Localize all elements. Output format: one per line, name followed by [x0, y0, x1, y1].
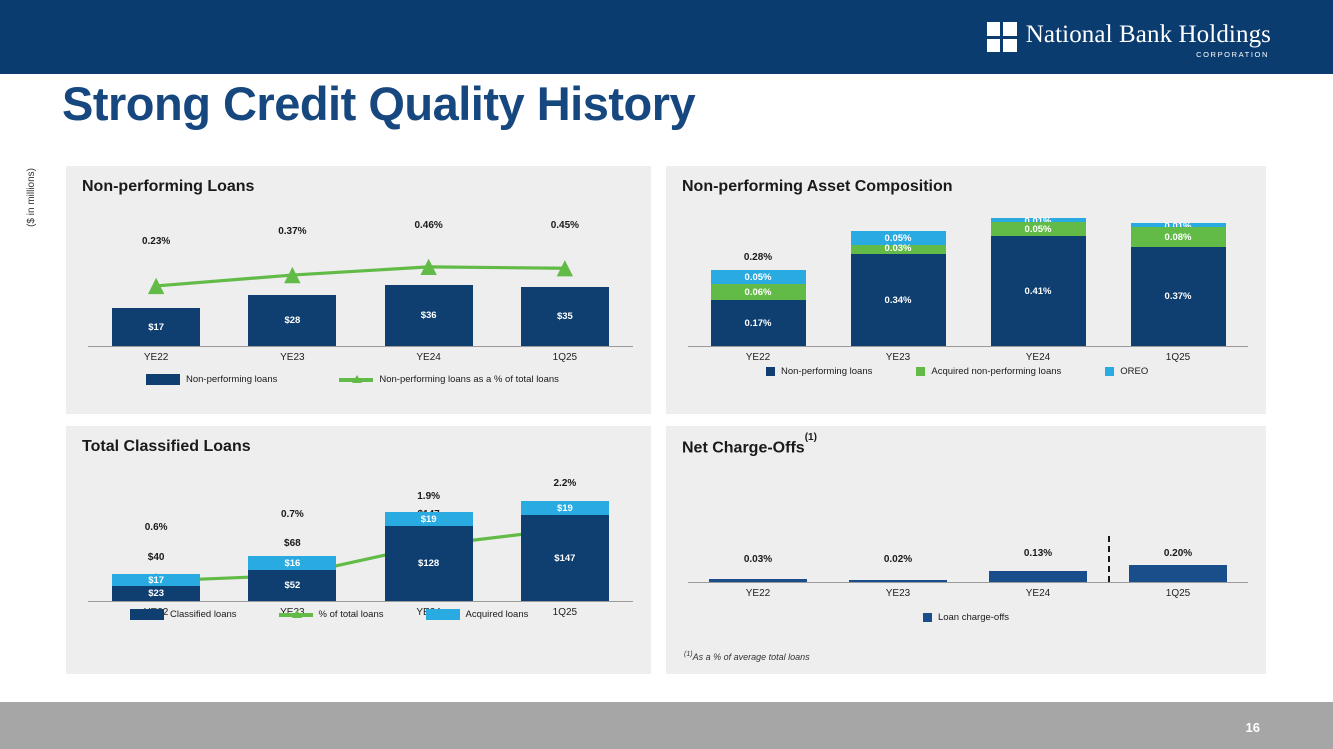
chart-title-text: Net Charge-Offs: [682, 439, 805, 456]
chart-title: Net Charge-Offs(1): [682, 438, 817, 457]
legend-swatch-icon: [923, 613, 932, 622]
legend-label: Acquired loans: [466, 609, 529, 620]
footer-bar: [0, 702, 1333, 749]
bar-slot: [688, 464, 828, 582]
bar-slot: $19 $147: [497, 476, 633, 601]
legend-item-classified-loans[interactable]: Classified loans: [130, 609, 237, 620]
segment-classified-loans: $128: [385, 526, 473, 601]
bar-slot: $28: [224, 226, 360, 346]
chart-title-superscript: (1): [805, 432, 817, 443]
x-tick-label: 1Q25: [1108, 352, 1248, 363]
segment-acquired-loans: $16: [248, 556, 336, 570]
page-title: Strong Credit Quality History: [62, 76, 695, 131]
bar-slot: 0.01% 0.05% 0.41%: [968, 218, 1108, 346]
y-axis-caption: ($ in millions): [26, 68, 37, 178]
legend-label: OREO: [1120, 366, 1148, 377]
bar-slot: $35: [497, 226, 633, 346]
chart-panel-npa-composition: Non-performing Asset Composition 0.28% 0…: [666, 166, 1266, 414]
stacked-bar-series: $17 $23 $16 $52 $19 $128 $19 $147: [88, 476, 633, 601]
bar-slot: [828, 464, 968, 582]
segment-classified-loans: $52: [248, 570, 336, 601]
segment-acquired-npl: 0.06%: [711, 284, 806, 300]
stacked-bar-ye23: 0.05% 0.03% 0.34%: [851, 231, 946, 346]
bar-npl-ye22: $17: [112, 308, 200, 346]
stacked-bar-ye22: $17 $23: [112, 574, 200, 601]
segment-oreo: 0.05%: [711, 270, 806, 284]
legend-swatch-icon: [1105, 367, 1114, 376]
x-tick-label: YE24: [968, 352, 1108, 363]
x-tick-label: YE22: [688, 352, 828, 363]
chart-legend: Classified loans % of total loans Acquir…: [130, 609, 528, 620]
y-axis-caption-text: ($ in millions): [26, 168, 37, 227]
logo-company-subtitle: CORPORATION: [1196, 50, 1269, 59]
footnote-text: As a % of average total loans: [693, 652, 810, 662]
company-logo: National Bank Holdings CORPORATION: [987, 22, 1271, 59]
segment-classified-loans: $147: [521, 515, 609, 601]
x-tick-label: YE22: [88, 352, 224, 363]
legend-swatch-icon: [916, 367, 925, 376]
legend-item-acquired-loans[interactable]: Acquired loans: [426, 609, 529, 620]
legend-item-loan-charge-offs[interactable]: Loan charge-offs: [923, 612, 1009, 623]
segment-acquired-loans: $19: [385, 512, 473, 526]
legend-item-oreo[interactable]: OREO: [1105, 366, 1148, 377]
bar-slot: [1108, 464, 1248, 582]
segment-npl: 0.37%: [1131, 247, 1226, 346]
x-axis-categories: YE22 YE23 YE24 1Q25: [88, 352, 633, 363]
x-axis-line: [688, 346, 1248, 347]
segment-npl: 0.17%: [711, 300, 806, 346]
segment-acquired-loans: $17: [112, 574, 200, 586]
bar-slot: $36: [361, 226, 497, 346]
bar-slot: 0.05% 0.03% 0.34%: [828, 218, 968, 346]
bar-npl-ye23: $28: [248, 295, 336, 346]
stacked-bar-ye24: $19 $128: [385, 512, 473, 601]
chart-legend: Non-performing loans Non-performing loan…: [146, 374, 559, 385]
legend-item-non-performing-loans[interactable]: Non-performing loans: [146, 374, 277, 385]
segment-acquired-loans: $19: [521, 501, 609, 515]
legend-item-npl-percent[interactable]: Non-performing loans as a % of total loa…: [339, 374, 559, 385]
chart-title: Non-performing Loans: [82, 178, 254, 196]
chart-title: Non-performing Asset Composition: [682, 178, 953, 196]
bar-slot: 0.01% 0.08% 0.37%: [1108, 218, 1248, 346]
segment-npl: 0.41%: [991, 236, 1086, 346]
stacked-bar-ye22: 0.05% 0.06% 0.17%: [711, 270, 806, 346]
x-axis-categories: YE22 YE23 YE24 1Q25: [688, 588, 1248, 599]
chart-panel-total-classified-loans: Total Classified Loans 0.6% 0.7% 1.9% 2.…: [66, 426, 651, 674]
legend-line-marker-icon: [279, 609, 313, 620]
legend-swatch-icon: [146, 374, 180, 385]
legend-label: Non-performing loans: [781, 366, 872, 377]
bar-slot: $16 $52: [224, 476, 360, 601]
x-tick-label: YE23: [828, 352, 968, 363]
legend-label: Classified loans: [170, 609, 237, 620]
legend-item-pct-of-total-loans[interactable]: % of total loans: [279, 609, 384, 620]
segment-npl: 0.34%: [851, 254, 946, 346]
x-tick-label: YE24: [968, 588, 1108, 599]
legend-swatch-icon: [130, 609, 164, 620]
legend-label: Non-performing loans: [186, 374, 277, 385]
plot-area: 0.03% 0.02% 0.13% 0.20% YE22 YE23 YE24 1…: [688, 464, 1248, 582]
chart-legend: Loan charge-offs: [666, 612, 1266, 623]
bar-slot: [968, 464, 1108, 582]
bar-nco-1q25: [1129, 565, 1227, 582]
legend-item-non-performing-loans[interactable]: Non-performing loans: [766, 366, 872, 377]
legend-label: Loan charge-offs: [938, 612, 1009, 623]
legend-swatch-icon: [766, 367, 775, 376]
segment-acquired-npl: 0.03%: [851, 245, 946, 254]
x-axis-line: [88, 346, 633, 347]
chart-footnote: (1)As a % of average total loans: [684, 651, 810, 662]
bar-nco-ye24: [989, 571, 1087, 582]
stacked-bar-1q25: 0.01% 0.08% 0.37%: [1131, 223, 1226, 346]
bar-series-non-performing-loans: $17 $28 $36 $35: [88, 226, 633, 346]
stacked-bar-series: 0.05% 0.06% 0.17% 0.05% 0.03% 0.34% 0.01…: [688, 218, 1248, 346]
segment-classified-loans: $23: [112, 586, 200, 601]
chart-panel-net-charge-offs: Net Charge-Offs(1) 0.03% 0.02% 0.13% 0.2…: [666, 426, 1266, 674]
logo-company-name: National Bank Holdings: [1026, 22, 1271, 47]
bar-slot: 0.05% 0.06% 0.17%: [688, 218, 828, 346]
x-axis-line: [88, 601, 633, 602]
legend-label: Non-performing loans as a % of total loa…: [379, 374, 559, 385]
x-tick-label: YE24: [361, 352, 497, 363]
legend-swatch-icon: [426, 609, 460, 620]
segment-acquired-npl: 0.05%: [991, 222, 1086, 236]
bar-npl-1q25: $35: [521, 287, 609, 346]
bar-series-loan-charge-offs: [688, 464, 1248, 582]
plot-area: 0.28% 0.42% 0.47% 0.46% 0.05% 0.06% 0.17…: [688, 218, 1248, 346]
stacked-bar-ye23: $16 $52: [248, 556, 336, 601]
chart-title: Total Classified Loans: [82, 438, 251, 456]
bar-slot: $19 $128: [361, 476, 497, 601]
stacked-bar-1q25: $19 $147: [521, 501, 609, 601]
legend-label: Acquired non-performing loans: [931, 366, 1061, 377]
four-square-grid-icon: [987, 22, 1017, 52]
x-tick-label: 1Q25: [1108, 588, 1248, 599]
chart-legend: Non-performing loans Acquired non-perfor…: [766, 366, 1148, 377]
chart-panel-non-performing-loans: Non-performing Loans 0.23% 0.37% 0.46% 0…: [66, 166, 651, 414]
page-number: 16: [1246, 720, 1260, 735]
plot-area: 0.6% 0.7% 1.9% 2.2% $40 $68 $147 $166 $1…: [88, 476, 633, 601]
x-axis-categories: YE22 YE23 YE24 1Q25: [688, 352, 1248, 363]
x-tick-label: 1Q25: [497, 352, 633, 363]
bar-slot: $17 $23: [88, 476, 224, 601]
x-tick-label: YE22: [688, 588, 828, 599]
legend-item-acquired-non-performing-loans[interactable]: Acquired non-performing loans: [916, 366, 1061, 377]
legend-line-marker-icon: [339, 374, 373, 385]
stacked-bar-ye24: 0.01% 0.05% 0.41%: [991, 218, 1086, 346]
bar-slot: $17: [88, 226, 224, 346]
segment-acquired-npl: 0.08%: [1131, 227, 1226, 247]
x-axis-line: [688, 582, 1248, 583]
x-tick-label: YE23: [828, 588, 968, 599]
footnote-marker: (1): [684, 651, 693, 658]
plot-area: 0.23% 0.37% 0.46% 0.45% $17 $28 $36 $35 …: [88, 226, 633, 346]
legend-label: % of total loans: [319, 609, 384, 620]
x-tick-label: YE23: [224, 352, 360, 363]
bar-npl-ye24: $36: [385, 285, 473, 346]
